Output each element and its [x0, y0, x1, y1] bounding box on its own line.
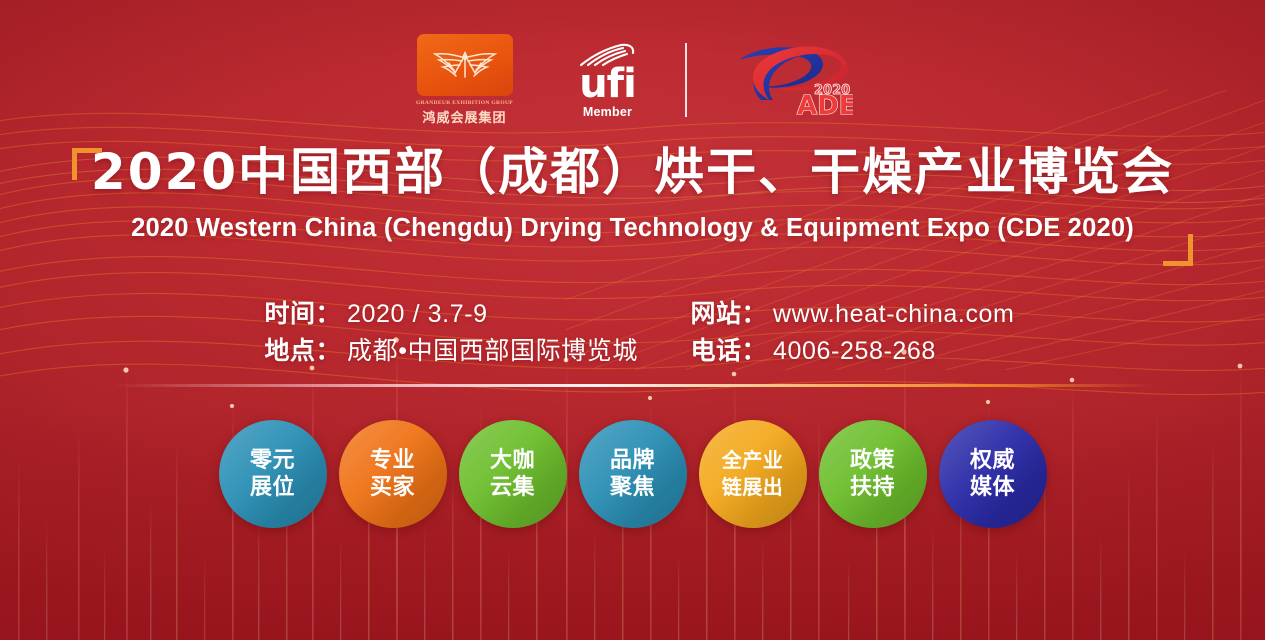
feature-line-1: 品牌 — [610, 447, 655, 474]
feature-line-1: 零元 — [250, 447, 295, 474]
feature-line-2: 扶持 — [850, 474, 895, 501]
corner-bracket-bottom-right-icon — [1163, 234, 1193, 266]
grandeur-exhibition-group-logo: GRANDEUR EXHIBITION GROUP 鸿威会展集团 — [413, 34, 517, 126]
feature-circle-row: 零元 展位 专业 买家 大咖 云集 品牌 聚焦 全产业 链展出 政策 扶持 — [0, 420, 1265, 528]
feature-line-1: 专业 — [370, 447, 415, 474]
venue-value: 成都•中国西部国际博览城 — [347, 333, 638, 370]
feature-line-2: 买家 — [370, 474, 415, 501]
feature-line-2: 媒体 — [970, 474, 1015, 501]
feature-circle[interactable]: 零元 展位 — [219, 420, 327, 528]
feature-circle[interactable]: 专业 买家 — [339, 420, 447, 528]
info-row-date: 时间： 2020 / 3.7-9 — [265, 296, 633, 333]
date-value: 2020 / 3.7-9 — [347, 296, 488, 333]
grandeur-logo-english: GRANDEUR EXHIBITION GROUP — [416, 100, 513, 106]
expo-title-chinese: 2020中国西部（成都）烘干、干燥产业博览会 — [0, 140, 1265, 204]
feature-circle[interactable]: 政策 扶持 — [819, 420, 927, 528]
grandeur-wings-mark — [417, 34, 513, 96]
ufi-member-logo: ufi Member — [565, 41, 651, 119]
ade-swoosh-icon: 2020 ADE — [721, 38, 853, 122]
info-block: 时间： 2020 / 3.7-9 地点： 成都•中国西部国际博览城 网站： ww… — [0, 296, 1265, 370]
feature-circle[interactable]: 全产业 链展出 — [699, 420, 807, 528]
eagle-wings-icon — [428, 43, 502, 87]
ufi-wordmark: ufi — [579, 66, 636, 103]
feature-circle[interactable]: 权威 媒体 — [939, 420, 1047, 528]
logo-row: GRANDEUR EXHIBITION GROUP 鸿威会展集团 ufi Mem… — [0, 34, 1265, 126]
feature-line-2: 云集 — [490, 474, 535, 501]
feature-line-1: 政策 — [850, 447, 895, 474]
corner-bracket-top-left-icon — [72, 148, 102, 180]
feature-line-1: 全产业 — [722, 447, 784, 474]
feature-line-2: 展位 — [250, 474, 295, 501]
info-row-website: 网站： www.heat-china.com — [691, 296, 1063, 333]
date-label: 时间： — [265, 296, 342, 333]
logo-divider — [685, 43, 687, 117]
title-block: 2020中国西部（成都）烘干、干燥产业博览会 2020 Western Chin… — [0, 140, 1265, 243]
ufi-member-label: Member — [583, 105, 632, 119]
horizontal-divider — [112, 384, 1154, 387]
venue-label: 地点： — [265, 333, 342, 370]
feature-circle[interactable]: 品牌 聚焦 — [579, 420, 687, 528]
feature-line-2: 链展出 — [722, 474, 784, 501]
feature-line-1: 权威 — [970, 447, 1015, 474]
info-row-venue: 地点： 成都•中国西部国际博览城 — [265, 333, 633, 370]
feature-circle[interactable]: 大咖 云集 — [459, 420, 567, 528]
info-row-phone: 电话： 4006-258-268 — [691, 333, 1063, 370]
ade-wordmark-text: ADE — [797, 91, 853, 121]
phone-value[interactable]: 4006-258-268 — [773, 333, 936, 370]
feature-line-2: 聚焦 — [610, 474, 655, 501]
info-column-left: 时间： 2020 / 3.7-9 地点： 成都•中国西部国际博览城 — [203, 296, 633, 370]
phone-label: 电话： — [691, 333, 768, 370]
expo-title-english: 2020 Western China (Chengdu) Drying Tech… — [0, 214, 1265, 243]
website-value[interactable]: www.heat-china.com — [773, 296, 1014, 333]
ade-2020-logo: 2020 ADE — [721, 38, 853, 122]
expo-promotional-banner: GRANDEUR EXHIBITION GROUP 鸿威会展集团 ufi Mem… — [0, 0, 1265, 640]
info-column-right: 网站： www.heat-china.com 电话： 4006-258-268 — [633, 296, 1063, 370]
feature-line-1: 大咖 — [490, 447, 535, 474]
grandeur-logo-chinese: 鸿威会展集团 — [422, 107, 506, 126]
website-label: 网站： — [691, 296, 768, 333]
